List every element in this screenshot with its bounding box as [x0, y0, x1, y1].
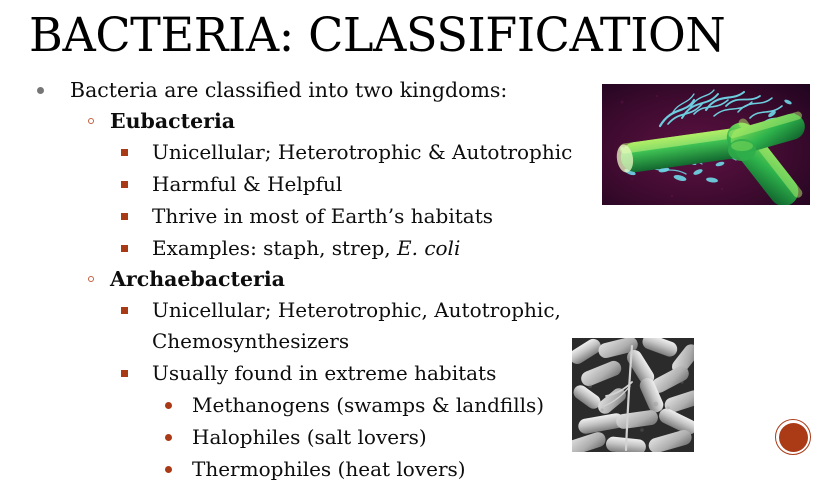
- archaebacteria-micrograph-image: [572, 338, 694, 452]
- accent-circle-decoration: [775, 419, 811, 455]
- list-item-label: Examples: staph, strep, E. coli: [152, 233, 600, 264]
- list-item-label: Halophiles (salt lovers): [192, 422, 600, 453]
- list-item: Eubacteria: [0, 107, 600, 135]
- bullet-dot-icon: [165, 466, 172, 473]
- list-item: Unicellular; Heterotrophic & Autotrophic: [0, 137, 600, 168]
- list-item-label: Thrive in most of Earth’s habitats: [152, 201, 600, 232]
- page-title: Bacteria: Classification: [29, 8, 715, 64]
- bullet-list: Bacteria are classified into two kingdom…: [0, 76, 600, 486]
- list-item-species-name: E. coli: [397, 236, 460, 260]
- bullet-dot-icon: [37, 87, 44, 94]
- bullet-square-icon: [121, 370, 128, 377]
- list-item-label: Bacteria are classified into two kingdom…: [70, 76, 600, 104]
- list-item-label: Unicellular; Heterotrophic, Autotrophic,…: [152, 295, 600, 357]
- list-item: Unicellular; Heterotrophic, Autotrophic,…: [0, 295, 600, 357]
- list-item-label: Thermophiles (heat lovers): [192, 454, 600, 485]
- list-item-label: Usually found in extreme habitats: [152, 358, 600, 389]
- list-item: Thrive in most of Earth’s habitats: [0, 201, 600, 232]
- list-item: Harmful & Helpful: [0, 169, 600, 200]
- bullet-square-icon: [121, 245, 128, 252]
- eubacteria-micrograph-graphic: [602, 84, 810, 205]
- list-item-label: Eubacteria: [110, 107, 600, 135]
- bullet-square-icon: [121, 307, 128, 314]
- bullet-square-icon: [121, 213, 128, 220]
- bullet-square-icon: [121, 181, 128, 188]
- bullet-circle-outline-icon: [88, 118, 94, 124]
- eubacteria-micrograph-image: [602, 84, 810, 205]
- list-item: Bacteria are classified into two kingdom…: [0, 76, 600, 104]
- list-item: Usually found in extreme habitats: [0, 358, 600, 389]
- slide-canvas: Bacteria: Classification Bacteria are cl…: [0, 0, 828, 466]
- list-item-text: Examples: staph, strep,: [152, 236, 397, 260]
- list-item-label: Archaebacteria: [110, 265, 600, 293]
- bullet-dot-icon: [165, 434, 172, 441]
- bullet-circle-outline-icon: [88, 276, 94, 282]
- accent-circle-fill: [779, 423, 808, 452]
- list-item: Examples: staph, strep, E. coli: [0, 233, 600, 264]
- archaebacteria-micrograph-graphic: [572, 338, 694, 452]
- list-item-label: Unicellular; Heterotrophic & Autotrophic: [152, 137, 600, 168]
- bullet-dot-icon: [165, 402, 172, 409]
- list-item: Thermophiles (heat lovers): [0, 454, 600, 485]
- list-item-label: Methanogens (swamps & landfills): [192, 390, 600, 421]
- list-item: Archaebacteria: [0, 265, 600, 293]
- bullet-square-icon: [121, 149, 128, 156]
- list-item: Halophiles (salt lovers): [0, 422, 600, 453]
- list-item-label: Harmful & Helpful: [152, 169, 600, 200]
- list-item: Methanogens (swamps & landfills): [0, 390, 600, 421]
